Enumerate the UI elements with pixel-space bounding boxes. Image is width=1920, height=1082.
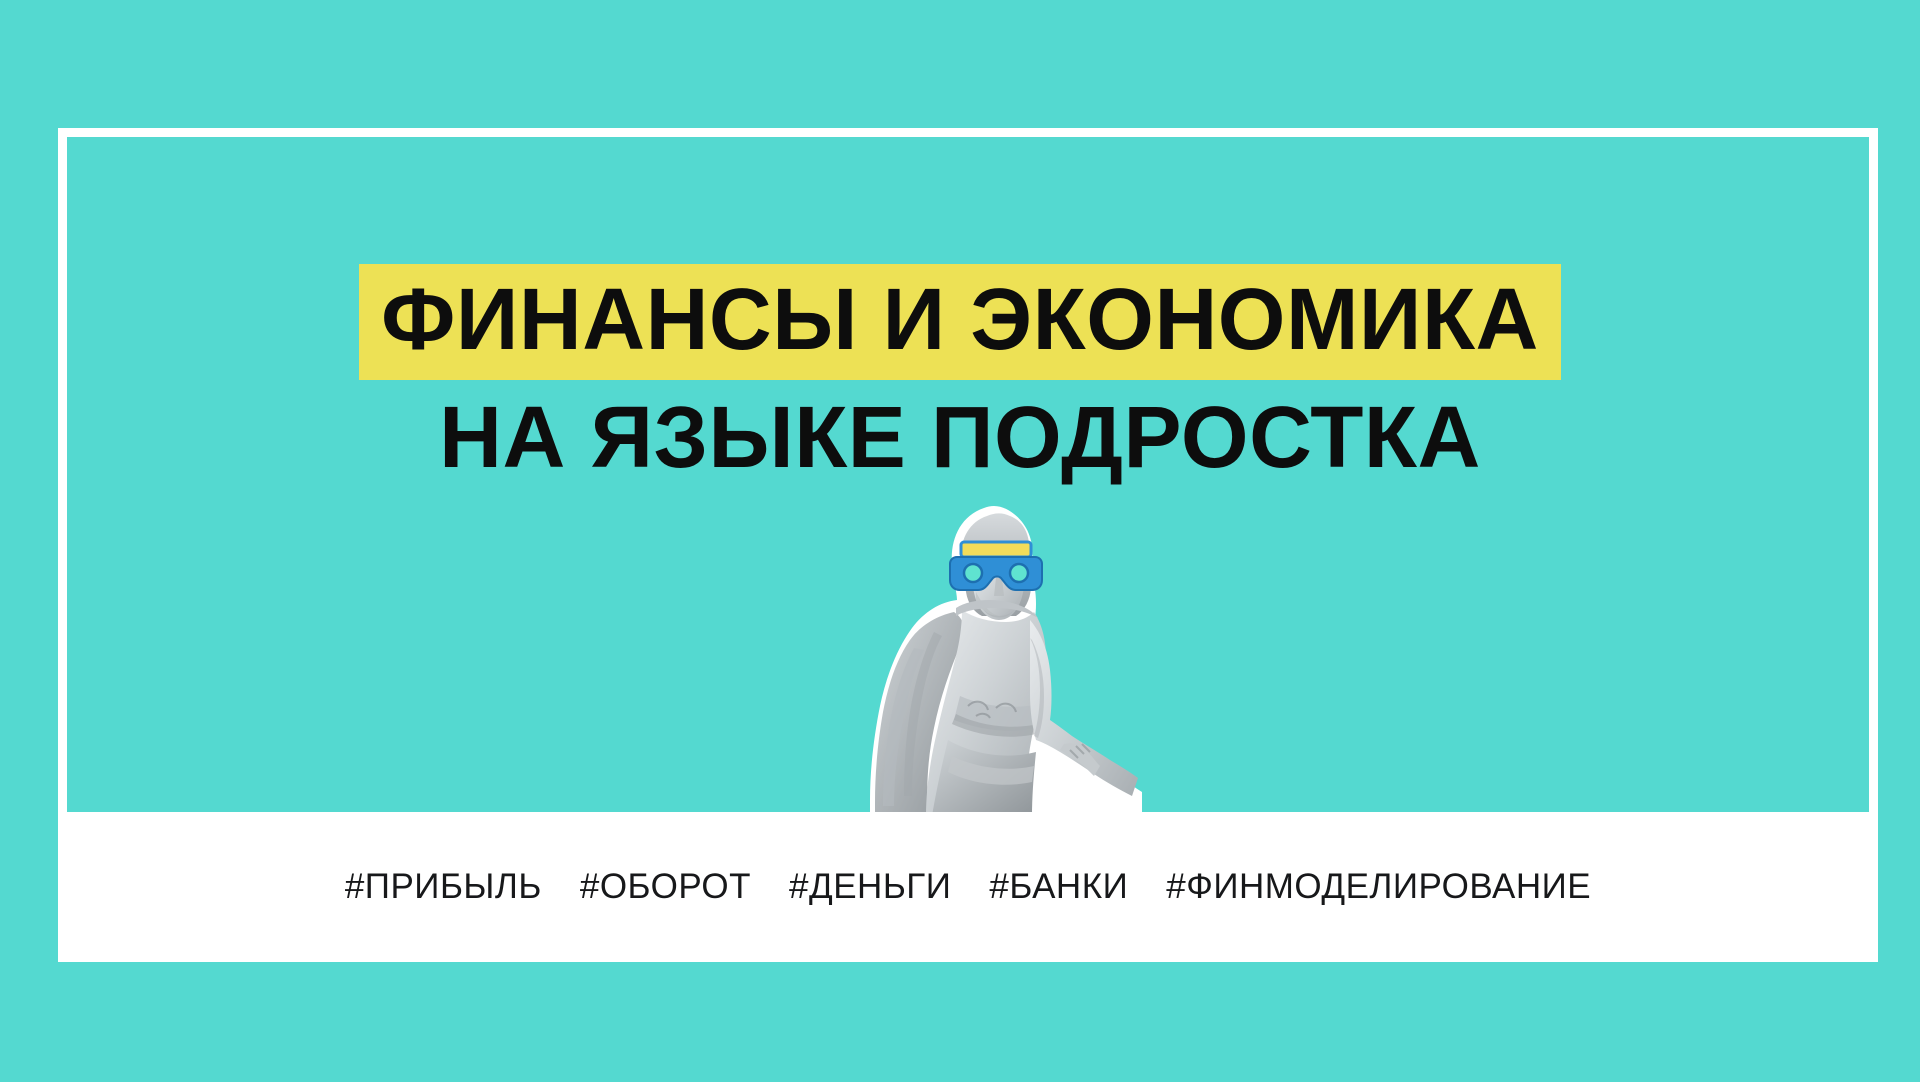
hashtag-item[interactable]: #БАНКИ bbox=[989, 867, 1128, 907]
goggle-lens-right bbox=[1010, 564, 1028, 582]
roman-statue-illustration bbox=[856, 500, 1156, 820]
hashtag-list: #ПРИБЫЛЬ #ОБОРОТ #ДЕНЬГИ #БАНКИ #ФИНМОДЕ… bbox=[345, 867, 1591, 907]
headline-block: ФИНАНСЫ И ЭКОНОМИКА НА ЯЗЫКЕ ПОДРОСТКА bbox=[0, 262, 1920, 490]
hashtag-bar: #ПРИБЫЛЬ #ОБОРОТ #ДЕНЬГИ #БАНКИ #ФИНМОДЕ… bbox=[58, 812, 1878, 962]
hashtag-item[interactable]: #ПРИБЫЛЬ bbox=[345, 867, 542, 907]
hashtag-item[interactable]: #ДЕНЬГИ bbox=[789, 867, 951, 907]
hashtag-item[interactable]: #ФИНМОДЕЛИРОВАНИЕ bbox=[1166, 867, 1591, 907]
title-line-1: ФИНАНСЫ И ЭКОНОМИКА bbox=[0, 262, 1920, 380]
title-line-1-highlight: ФИНАНСЫ И ЭКОНОМИКА bbox=[359, 264, 1561, 380]
hashtag-item[interactable]: #ОБОРОТ bbox=[580, 867, 751, 907]
statue-svg bbox=[856, 500, 1156, 820]
title-line-2: НА ЯЗЫКЕ ПОДРОСТКА bbox=[0, 386, 1920, 490]
goggle-lens-left bbox=[964, 564, 982, 582]
poster-canvas: ФИНАНСЫ И ЭКОНОМИКА НА ЯЗЫКЕ ПОДРОСТКА bbox=[0, 0, 1920, 1082]
